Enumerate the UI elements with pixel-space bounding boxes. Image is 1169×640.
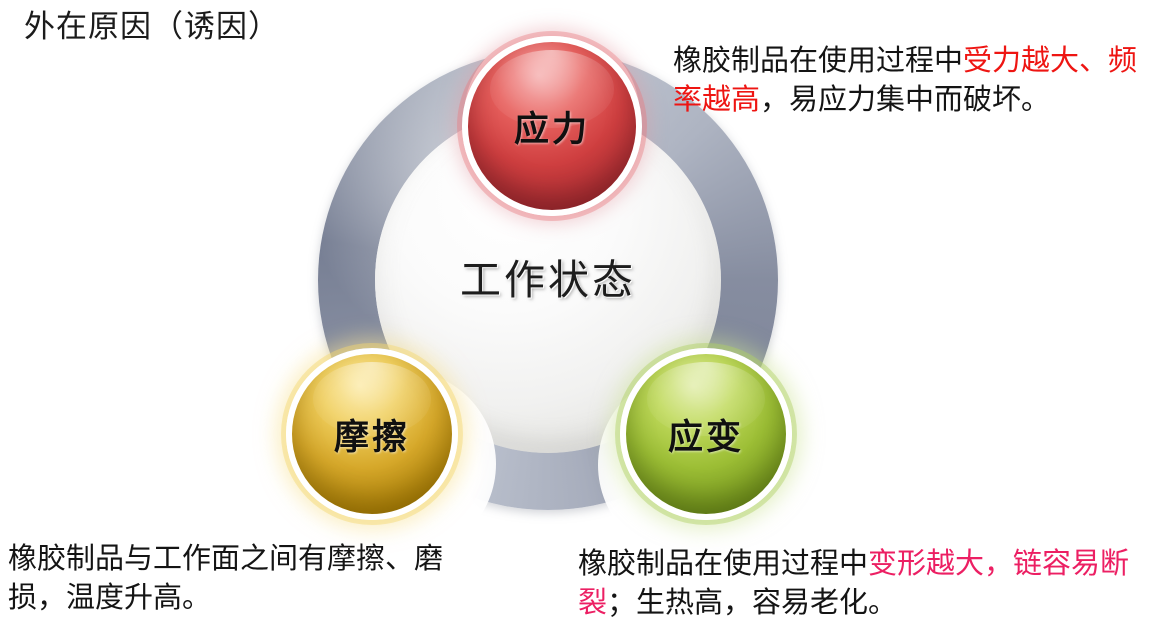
callout-strain-part-3: ；生热高，容易老化。	[607, 587, 897, 619]
callout-strain: 橡胶制品在使用过程中变形越大，链容易断裂；生热高，容易老化。	[578, 545, 1168, 622]
node-stress-label: 应力	[514, 101, 590, 152]
callout-stress: 橡胶制品在使用过程中受力越大、频率越高，易应力集中而破坏。	[673, 42, 1159, 119]
node-strain[interactable]: 应变	[620, 348, 792, 520]
callout-strain-part-1: 橡胶制品在使用过程中	[578, 548, 868, 580]
callout-stress-part-1: 橡胶制品在使用过程中	[673, 45, 963, 77]
callout-friction-text: 橡胶制品与工作面之间有摩擦、磨损，温度升高。	[8, 543, 443, 614]
node-stress[interactable]: 应力	[462, 36, 642, 216]
page-title: 外在原因（诱因）	[24, 8, 280, 45]
node-friction[interactable]: 摩擦	[286, 348, 458, 520]
callout-stress-part-3: ，易应力集中而破坏。	[760, 84, 1050, 116]
diagram-center-label: 工作状态	[375, 246, 721, 306]
node-strain-label: 应变	[668, 409, 744, 460]
callout-friction: 橡胶制品与工作面之间有摩擦、磨损，温度升高。	[8, 540, 448, 617]
node-friction-label: 摩擦	[334, 409, 410, 460]
